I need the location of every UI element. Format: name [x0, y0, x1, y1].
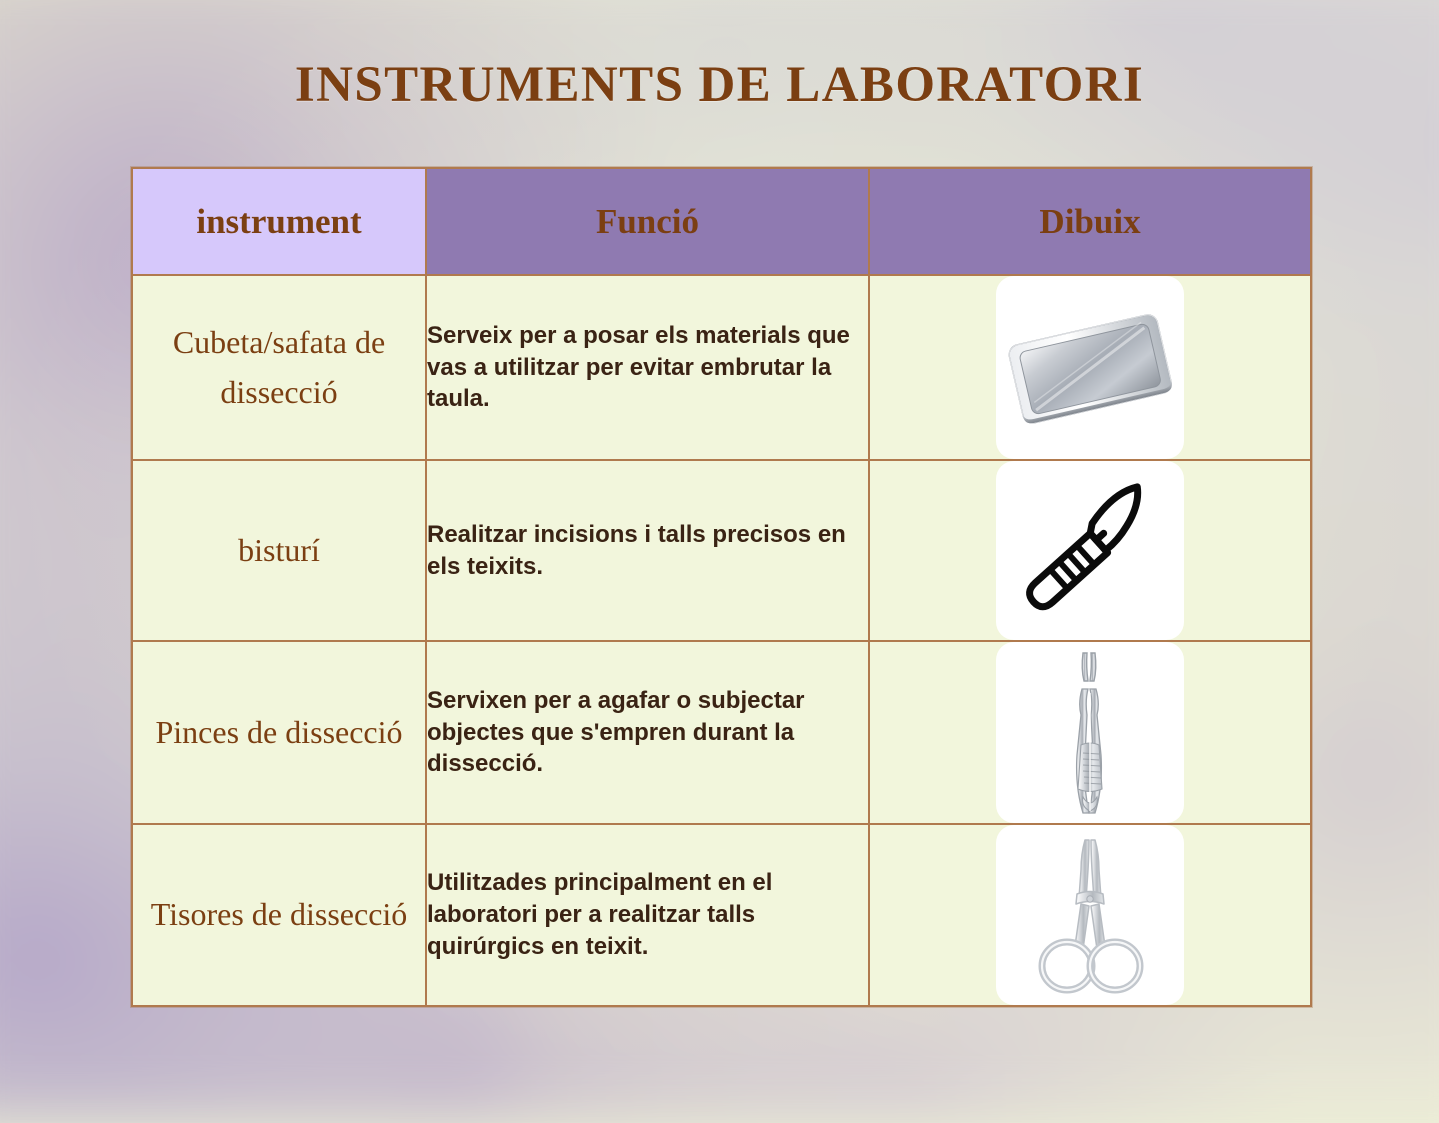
forceps-icon	[1025, 649, 1155, 817]
table-row: Cubeta/safata de dissecció Serveix per a…	[132, 275, 1311, 460]
instrument-function-pinces: Servixen per a agafar o subjectar object…	[426, 641, 869, 824]
column-header-funcio: Funció	[426, 168, 869, 275]
page-title: INSTRUMENTS DE LABORATORI	[0, 56, 1439, 114]
instrument-drawing-cell-bisturi	[869, 460, 1311, 641]
instrument-name-tisores: Tisores de dissecció	[132, 824, 426, 1006]
instruments-table: instrument Funció Dibuix Cubeta/safata d…	[131, 167, 1312, 1007]
table-body: Cubeta/safata de dissecció Serveix per a…	[132, 275, 1311, 1006]
table-row: bisturí Realitzar incisions i talls prec…	[132, 460, 1311, 641]
instrument-name-pinces: Pinces de dissecció	[132, 641, 426, 824]
drawing-tile	[996, 461, 1184, 640]
instrument-name-cubeta: Cubeta/safata de dissecció	[132, 275, 426, 460]
column-header-instrument: instrument	[132, 168, 426, 275]
instrument-function-bisturi: Realitzar incisions i talls precisos en …	[426, 460, 869, 641]
instrument-drawing-cell-cubeta	[869, 275, 1311, 460]
instrument-function-cubeta: Serveix per a posar els materials que va…	[426, 275, 869, 460]
instrument-drawing-cell-tisores	[869, 824, 1311, 1006]
table-header: instrument Funció Dibuix	[132, 168, 1311, 275]
instrument-function-tisores: Utilitzades principalment en el laborato…	[426, 824, 869, 1006]
column-header-dibuix: Dibuix	[869, 168, 1311, 275]
surgical-scissors-icon	[1015, 832, 1165, 998]
drawing-tile	[996, 825, 1184, 1005]
table-row: Tisores de dissecció Utilitzades princip…	[132, 824, 1311, 1006]
table-header-row: instrument Funció Dibuix	[132, 168, 1311, 275]
drawing-tile	[996, 276, 1184, 459]
drawing-tile	[996, 642, 1184, 823]
dissection-tray-icon	[1002, 293, 1178, 443]
instrument-drawing-cell-pinces	[869, 641, 1311, 824]
table-row: Pinces de dissecció Servixen per a agafa…	[132, 641, 1311, 824]
scalpel-icon	[1002, 467, 1178, 635]
instrument-name-bisturi: bisturí	[132, 460, 426, 641]
